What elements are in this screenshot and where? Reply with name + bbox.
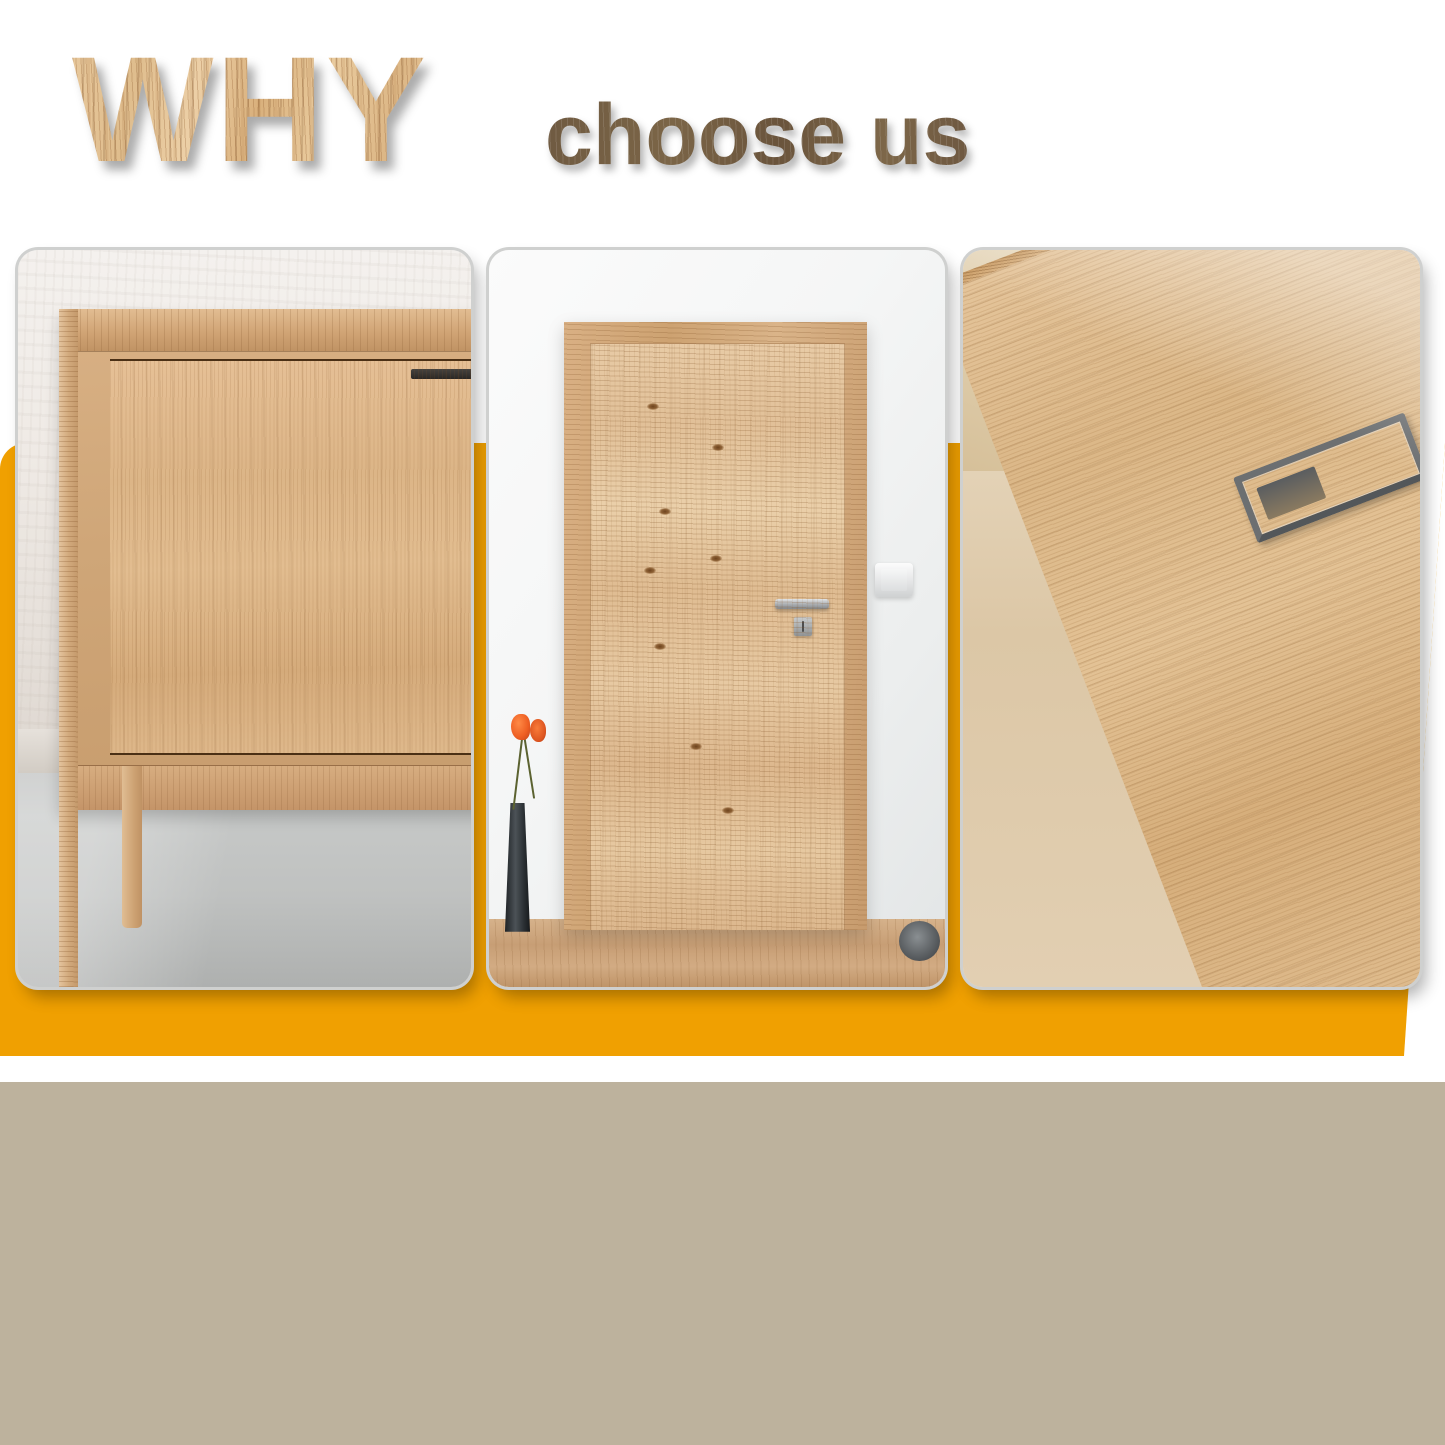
light-switch xyxy=(875,563,913,597)
cabinet-leg-left xyxy=(59,309,78,987)
wood-knot-icon xyxy=(654,643,666,650)
features-list: HIGH QUALITY MATERIAL NATURE REDOAK WOOD… xyxy=(0,1082,1445,1445)
wood-knot-icon xyxy=(647,403,659,410)
page-title-primary: WHY xyxy=(72,34,428,184)
gallery-photo-door xyxy=(489,250,945,987)
page-title-secondary: choose us xyxy=(545,92,970,178)
cabinet-top-rail xyxy=(59,309,471,352)
cabinet-leg-mid xyxy=(122,766,142,928)
wood-knot-icon xyxy=(710,555,722,562)
wood-knot-icon xyxy=(712,444,724,451)
cabinet-bottom-rail xyxy=(59,765,471,810)
door-lock-escutcheon xyxy=(794,617,812,636)
door-frame xyxy=(564,322,867,930)
highlight-glare xyxy=(963,250,1420,987)
wood-knot-icon xyxy=(690,743,702,750)
wood-knot-icon xyxy=(722,807,734,814)
cabinet-handle xyxy=(411,369,471,379)
cabinet-door-panel xyxy=(110,359,471,755)
poppy-flower xyxy=(511,714,530,741)
poppy-flower xyxy=(530,719,546,743)
header: WHY choose us xyxy=(0,0,1445,230)
promo-banner: WHY choose us xyxy=(0,0,1445,1445)
photo-gallery xyxy=(0,250,1445,990)
gallery-photo-drawer-handle xyxy=(963,250,1420,987)
sideboard-body xyxy=(59,309,471,810)
wood-knot-icon xyxy=(659,508,671,515)
wood-knot-icon xyxy=(644,567,656,574)
gallery-photo-sideboard xyxy=(18,250,471,987)
door-lever-handle xyxy=(775,599,828,609)
door-leaf xyxy=(590,343,845,930)
